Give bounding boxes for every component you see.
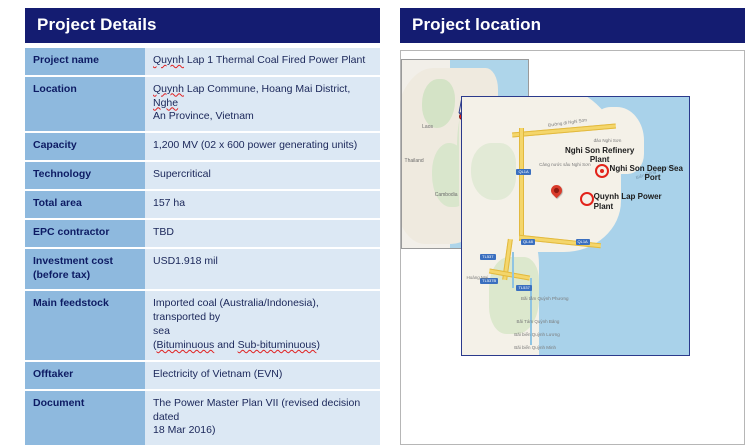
value-line: Quynh <box>153 83 184 95</box>
value-line: Electricity of Vietnam (EVN) <box>153 368 373 382</box>
row-value-location: Quynh Lap Commune, Hoang Mai District, N… <box>145 76 380 133</box>
country-label-laos: Laos <box>422 124 433 130</box>
highway-badge: TL537 <box>516 285 531 291</box>
project-details-panel: Project Details Project name Quynh Lap 1… <box>25 8 380 447</box>
project-location-panel: Project location <box>400 8 745 43</box>
value-line: 157 ha <box>153 197 373 211</box>
highway-badge: QL1A <box>576 239 590 245</box>
value-line-rest: Lap Commune, Hoang Mai District, <box>184 83 350 95</box>
value-line: 18 Mar 2016) <box>153 424 373 438</box>
country-label-cambodia: Cambodia <box>435 192 458 198</box>
row-label-capacity: Capacity <box>25 132 145 161</box>
row-label-investment-cost: Investment cost (before tax) <box>25 248 145 291</box>
poi-label-nghi-son-refinery: Nghi Son Refinery Plant <box>560 146 640 164</box>
map-label-bai-tam-quynh-phuong: Bãi tắm Quỳnh Phương <box>521 296 569 302</box>
row-value-total-area: 157 ha <box>145 190 380 219</box>
label-line: Investment cost <box>33 255 138 269</box>
row-label-offtaker: Offtaker <box>25 361 145 390</box>
map-label-dao-nghi-son: đảo Nghi Sơn <box>594 138 622 144</box>
value-line: Quynh <box>153 54 184 66</box>
row-value-offtaker: Electricity of Vietnam (EVN) <box>145 361 380 390</box>
poi-line: Nghi Son Deep Sea <box>610 164 683 173</box>
table-row: Offtaker Electricity of Vietnam (EVN) <box>25 361 380 390</box>
project-location-header: Project location <box>400 8 745 43</box>
table-row: Project name Quynh Lap 1 Thermal Coal Fi… <box>25 48 380 76</box>
value-line: Supercritical <box>153 168 373 182</box>
map-label-bai-tam-quynh-bang: Bãi Tám Quỳnh Bảng <box>516 319 559 325</box>
label-line: (before tax) <box>33 269 138 283</box>
table-row: Technology Supercritical <box>25 161 380 190</box>
poi-line: Port <box>610 173 690 182</box>
value-line-bituminuous: (Bituminuous and Sub-bituminuous) <box>153 339 373 353</box>
table-row: Location Quynh Lap Commune, Hoang Mai Di… <box>25 76 380 133</box>
value-line: The Power Master Plan VII (revised decis… <box>153 397 373 425</box>
row-value-project-name: Quynh Lap 1 Thermal Coal Fired Power Pla… <box>145 48 380 76</box>
project-details-header: Project Details <box>25 8 380 43</box>
row-value-capacity: 1,200 MV (02 x 600 power generating unit… <box>145 132 380 161</box>
row-label-location: Location <box>25 76 145 133</box>
project-details-table: Project name Quynh Lap 1 Thermal Coal Fi… <box>25 48 380 447</box>
value-line-rest: Lap 1 Thermal Coal Fired Power Plant <box>184 54 365 66</box>
row-label-project-name: Project name <box>25 48 145 76</box>
highway-badge: QL48 <box>521 239 535 245</box>
map-label-bai-bien-quynh-minh: Bãi biển Quỳnh Minh <box>514 345 556 351</box>
highway-badge: TL537 <box>480 254 495 260</box>
river <box>512 252 514 288</box>
table-row: EPC contractor TBD <box>25 219 380 248</box>
poi-label-quynh-lap-power-plant: Quynh Lap Power Plant <box>594 192 674 210</box>
row-value-document: The Power Master Plan VII (revised decis… <box>145 390 380 447</box>
table-row: Main feedstock Imported coal (Australia/… <box>25 290 380 360</box>
value-line: 1,200 MV (02 x 600 power generating unit… <box>153 139 373 153</box>
nghi-son-port-marker-icon <box>595 164 609 178</box>
row-value-main-feedstock: Imported coal (Australia/Indonesia), tra… <box>145 290 380 360</box>
row-value-epc-contractor: TBD <box>145 219 380 248</box>
poi-label-nghi-son-deep-sea-port: Nghi Son Deep Sea Port <box>610 164 690 182</box>
value-line: TBD <box>153 226 373 240</box>
country-label-thailand: Thailand <box>405 158 424 164</box>
value-line: Imported coal (Australia/Indonesia), tra… <box>153 297 373 325</box>
detail-terrain <box>471 143 516 200</box>
poi-line: Plant <box>594 202 614 211</box>
map-label-bai-bien-quynh-luong: Bãi biển Quỳnh Lương <box>514 332 560 338</box>
poi-line: Nghi Son Refinery <box>565 146 634 155</box>
detail-map[interactable]: QL1A QL48 QL1A TL537 TL537B TL537 đảo Ng… <box>461 96 690 356</box>
value-line-nghe: Nghe <box>153 97 178 109</box>
poi-line: Quynh Lap Power <box>594 192 662 201</box>
poi-line: Plant <box>590 155 610 164</box>
value-line: An Province, Vietnam <box>153 110 373 124</box>
row-label-document: Document <box>25 390 145 447</box>
table-row: Investment cost (before tax) USD1.918 mi… <box>25 248 380 291</box>
highway-badge: QL1A <box>516 169 530 175</box>
value-line: sea <box>153 325 373 339</box>
row-label-total-area: Total area <box>25 190 145 219</box>
road-segment <box>519 128 524 242</box>
table-row: Total area 157 ha <box>25 190 380 219</box>
row-value-technology: Supercritical <box>145 161 380 190</box>
table-row: Capacity 1,200 MV (02 x 600 power genera… <box>25 132 380 161</box>
map-label-hoang-mai: Hoàng Mai <box>467 275 489 281</box>
row-label-epc-contractor: EPC contractor <box>25 219 145 248</box>
table-row: Document The Power Master Plan VII (revi… <box>25 390 380 447</box>
row-label-main-feedstock: Main feedstock <box>25 290 145 360</box>
value-line: USD1.918 mil <box>153 255 373 269</box>
row-label-technology: Technology <box>25 161 145 190</box>
row-value-investment-cost: USD1.918 mil <box>145 248 380 291</box>
map-container: Laos Thailand Cambodia Vietnam QL1A QL48… <box>400 50 745 445</box>
